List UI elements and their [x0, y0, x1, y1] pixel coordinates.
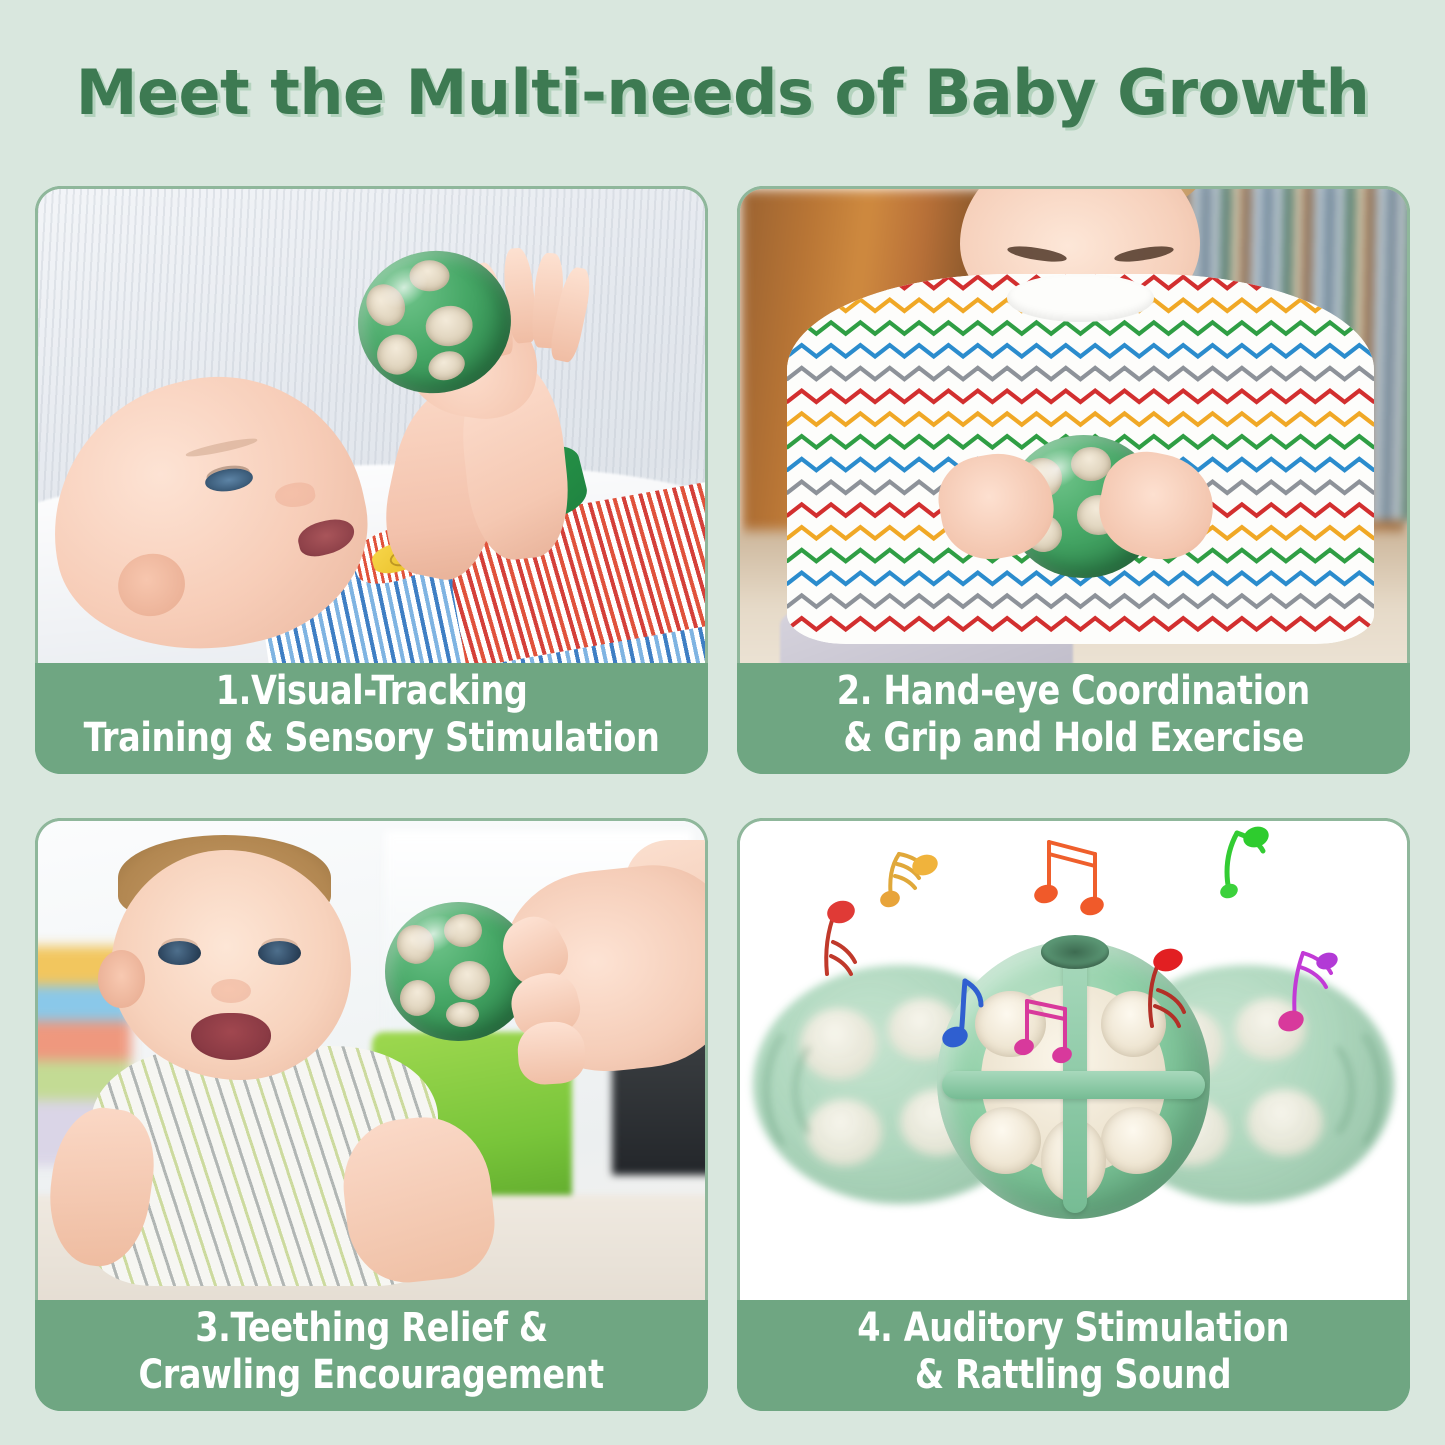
caption-bar-3: 3.Teething Relief & Crawling Encourageme… [35, 1300, 708, 1411]
benefits-grid: 1.Visual-Tracking Training & Sensory Sti… [35, 186, 1410, 1411]
baby-eye-right [258, 941, 301, 965]
photo-toddler-gripping-ball [737, 186, 1410, 663]
baby-ear [98, 950, 145, 1007]
caption-3-line-2: Crawling Encouragement [139, 1352, 604, 1399]
benefit-card-1[interactable]: 1.Visual-Tracking Training & Sensory Sti… [35, 186, 708, 774]
benefit-card-4[interactable]: 4. Auditory Stimulation & Rattling Sound [737, 818, 1410, 1411]
caption-1-line-2: Training & Sensory Stimulation [84, 715, 660, 762]
page-title: Meet the Multi-needs of Baby Growth [0, 56, 1445, 130]
benefit-card-2[interactable]: 2. Hand-eye Coordination & Grip and Hold… [737, 186, 1410, 774]
benefit-card-3[interactable]: 3.Teething Relief & Crawling Encourageme… [35, 818, 708, 1411]
infographic-page: Meet the Multi-needs of Baby Growth [0, 0, 1445, 1445]
rattle-ball [937, 941, 1210, 1219]
caption-bar-2: 2. Hand-eye Coordination & Grip and Hold… [737, 663, 1410, 774]
photo-baby-in-crib [35, 186, 708, 663]
caption-2-line-1: 2. Hand-eye Coordination [837, 668, 1310, 715]
photo-rattle-ball [737, 818, 1410, 1300]
toddler-collar [1007, 274, 1154, 321]
baby-eye-left [158, 941, 201, 965]
photo-crawling-baby [35, 818, 708, 1300]
caption-4-line-1: 4. Auditory Stimulation [858, 1305, 1290, 1352]
caption-3-line-1: 3.Teething Relief & [195, 1305, 547, 1352]
caption-2-line-2: & Grip and Hold Exercise [843, 715, 1304, 762]
green-lattice-ball [385, 902, 532, 1041]
caption-1-line-1: 1.Visual-Tracking [216, 668, 528, 715]
caption-4-line-2: & Rattling Sound [915, 1352, 1231, 1399]
caption-bar-4: 4. Auditory Stimulation & Rattling Sound [737, 1300, 1410, 1411]
caption-bar-1: 1.Visual-Tracking Training & Sensory Sti… [35, 663, 708, 774]
